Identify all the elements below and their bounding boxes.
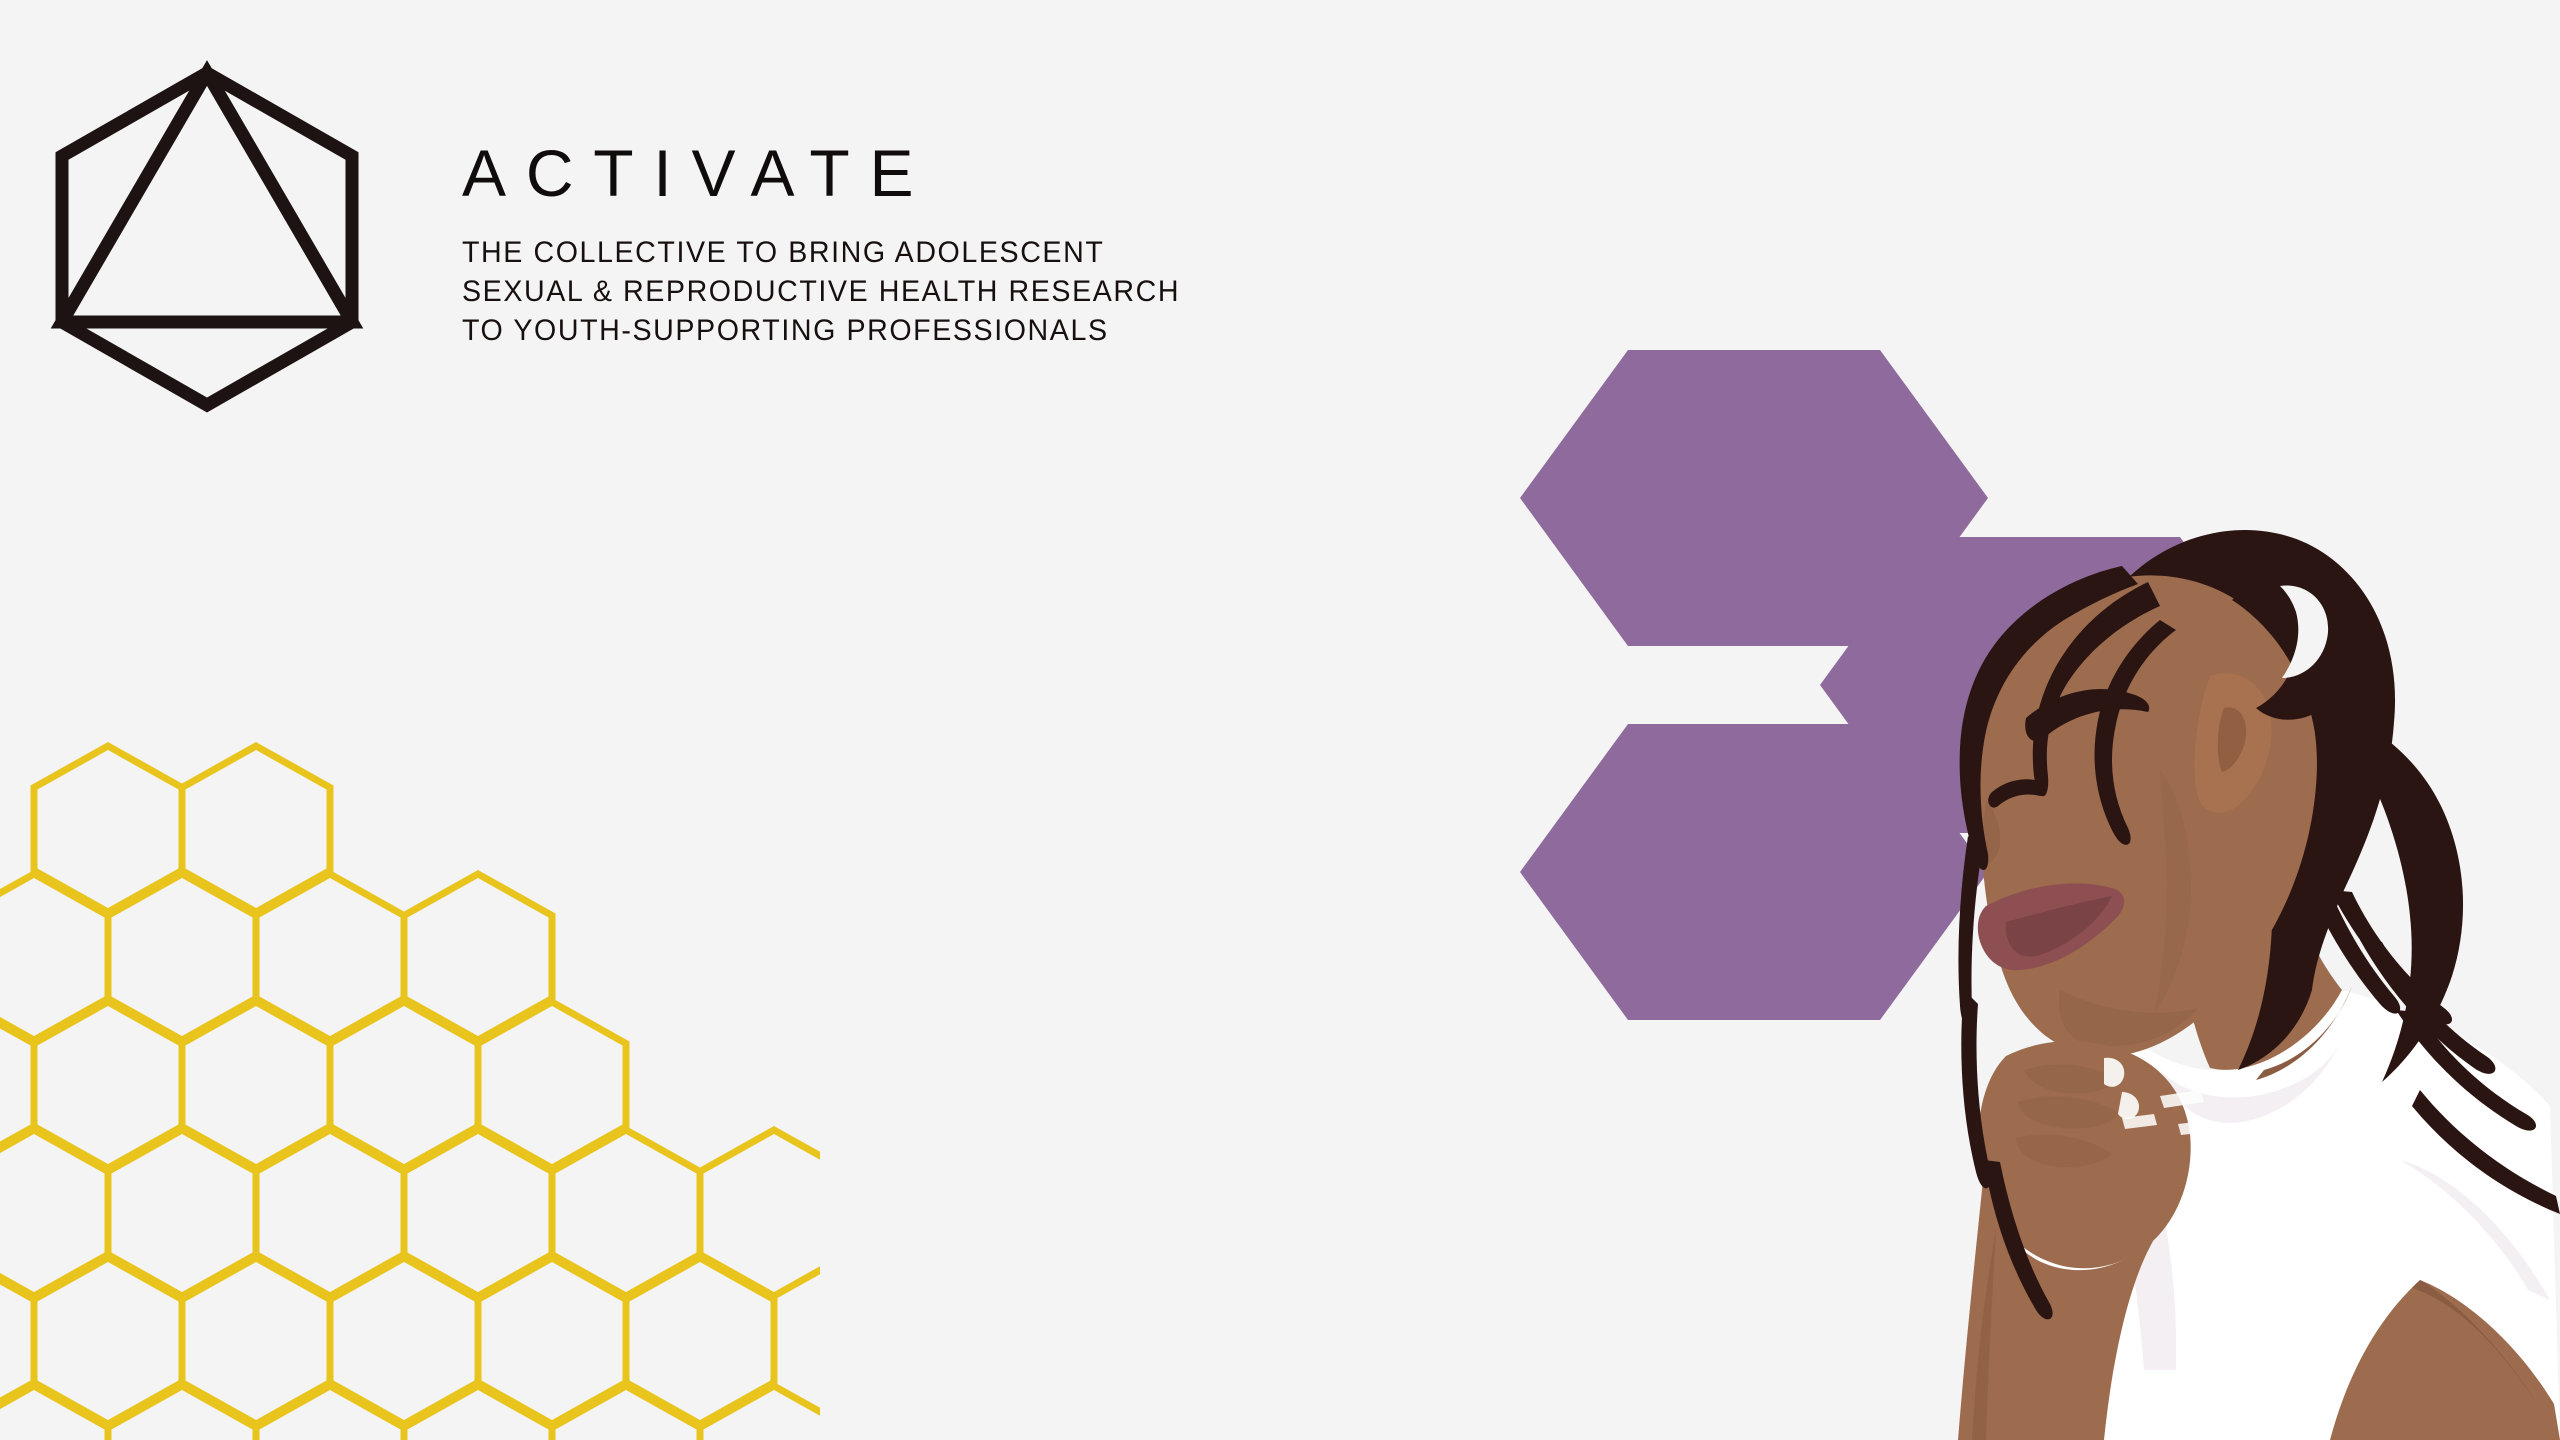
honeycomb-pattern	[0, 740, 820, 1440]
honeycomb-cell	[0, 1130, 108, 1296]
logo-triangle	[62, 73, 352, 322]
honeycomb-cell	[108, 1386, 256, 1440]
honeycomb-cell	[0, 874, 108, 1040]
honeycomb-cell	[404, 1386, 552, 1440]
woman-portrait-illustration	[1860, 470, 2560, 1440]
brand-text-block: ACTIVATE THE COLLECTIVE TO BRING ADOLESC…	[462, 140, 1282, 351]
honeycomb-cell	[256, 1386, 404, 1440]
logo-svg	[42, 55, 372, 435]
brand-lockup: ACTIVATE THE COLLECTIVE TO BRING ADOLESC…	[0, 0, 1300, 460]
wordmark: ACTIVATE	[462, 140, 1282, 206]
honeycomb-svg	[0, 740, 820, 1440]
tagline-line-2: SEXUAL & REPRODUCTIVE HEALTH RESEARCH	[462, 273, 1257, 312]
portrait-svg	[1860, 470, 2560, 1440]
tagline-line-3: TO YOUTH-SUPPORTING PROFESSIONALS	[462, 312, 1257, 351]
honeycomb-cell	[552, 1386, 700, 1440]
hexagon-triangle-logo-icon	[42, 55, 372, 435]
tagline-line-1: THE COLLECTIVE TO BRING ADOLESCENT	[462, 234, 1257, 273]
poster-canvas: ACTIVATE THE COLLECTIVE TO BRING ADOLESC…	[0, 0, 2560, 1440]
